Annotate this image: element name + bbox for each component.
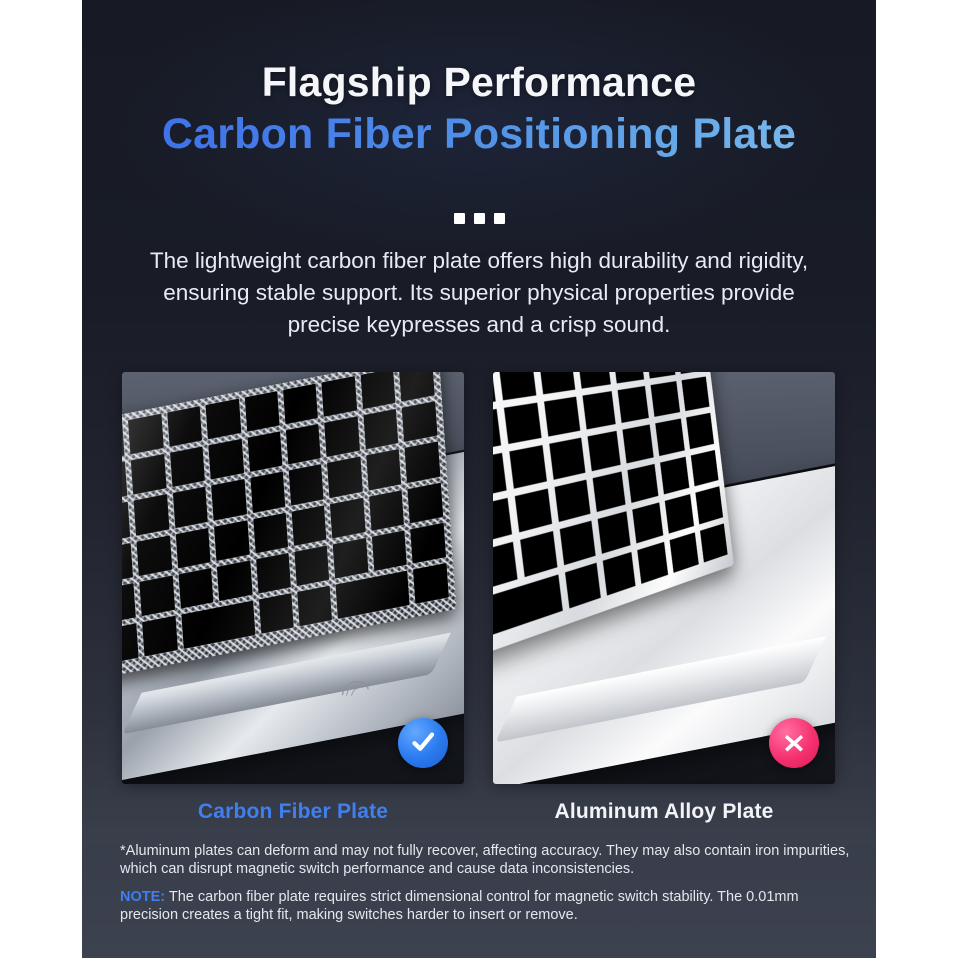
plate-switch-cutout [289, 465, 324, 506]
headline-primary: Flagship Performance [82, 58, 876, 106]
plate-switch-cutout [695, 487, 723, 525]
plate-switch-cutout [582, 391, 615, 430]
footnote-asterisk: *Aluminum plates can deform and may not … [120, 843, 850, 878]
plate-switch-cutout [520, 532, 557, 578]
plate-switch-cutout [291, 505, 326, 546]
plate-switch-cutout [565, 563, 600, 608]
plate-switch-cutout [602, 552, 635, 595]
divider-dot [494, 213, 505, 224]
plate-switch-cutout [206, 399, 241, 440]
headline-secondary: Carbon Fiber Positioning Plate [82, 109, 876, 161]
plate-switch-cutout [175, 528, 210, 569]
plate-switch-cutout [577, 372, 611, 389]
plate-switch-cutout [294, 546, 329, 587]
plate-switch-cutout [181, 601, 255, 649]
plate-switch-cutout [372, 531, 407, 572]
plate-switch-cutout [549, 438, 584, 480]
plate-switch-cutout [650, 381, 680, 417]
plate-switch-cutout [122, 462, 128, 503]
plate-switch-cutout [700, 524, 728, 563]
plate-switch-cutout [122, 664, 139, 670]
plate-switch-cutout [617, 386, 648, 424]
plate-switch-cutout [297, 586, 332, 627]
promo-page: Flagship Performance Carbon Fiber Positi… [0, 0, 958, 958]
plate-switch-cutout [211, 480, 246, 521]
plate-switch-cutout [555, 480, 590, 523]
plate-switch-cutout [560, 521, 595, 565]
plate-switch-cutout [330, 498, 365, 539]
plate-switch-cutout [363, 410, 398, 451]
plate-switch-cutout [515, 489, 553, 533]
plate-switch-cutout [167, 407, 202, 448]
caption-aluminum-alloy: Aluminum Alloy Plate [493, 800, 835, 824]
plate-switch-cutout [122, 584, 136, 625]
plate-switch-cutout [592, 472, 625, 513]
plate-switch-cutout [413, 564, 448, 605]
plate-switch-cutout [493, 409, 501, 453]
plate-switch-cutout [140, 576, 175, 617]
plate-switch-cutout [360, 372, 395, 410]
plate-switch-cutout [597, 512, 630, 554]
plate-switch-cutout [244, 392, 279, 433]
plate-switch-cutout [286, 425, 321, 466]
plate-switch-cutout [369, 490, 404, 531]
plate-switch-cutout [410, 523, 445, 564]
divider-dot [454, 213, 465, 224]
plate-switch-cutout [142, 616, 177, 657]
plate-switch-cutout [677, 372, 705, 374]
plate-switch-cutout [327, 458, 362, 499]
plate-switch-cutout [217, 561, 252, 602]
plate-switch-cutout [336, 571, 410, 619]
note-text: The carbon fiber plate requires strict d… [120, 889, 799, 923]
plate-switch-cutout [612, 372, 644, 383]
plate-switch-cutout [493, 542, 518, 590]
plate-switch-cutout [664, 495, 693, 534]
plate-switch-cutout [208, 440, 243, 481]
divider-dot [474, 213, 485, 224]
plate-switch-cutout [627, 464, 658, 504]
plate-switch-cutout [170, 447, 205, 488]
promo-panel: Flagship Performance Carbon Fiber Positi… [82, 0, 876, 958]
product-image-aluminum-alloy [493, 372, 835, 784]
plate-switch-cutout [283, 384, 318, 425]
plate-switch-cutout [122, 624, 139, 665]
plate-switch-cutout [366, 450, 401, 491]
caption-carbon-fiber: Carbon Fiber Plate [122, 800, 464, 824]
plate-switch-cutout [686, 413, 714, 449]
plate-switch-cutout [493, 372, 496, 407]
plate-switch-cutout [122, 503, 130, 544]
plate-switch-cutout [322, 377, 357, 418]
plate-switch-cutout [122, 543, 133, 584]
plate-switch-cutout [134, 495, 169, 536]
plate-switch-cutout [504, 402, 542, 444]
plate-switch-cutout [539, 372, 575, 394]
status-badge-approved [398, 718, 448, 768]
plate-switch-cutout [407, 483, 442, 524]
plate-switch-cutout [498, 372, 536, 400]
plate-switch-cutout [622, 425, 653, 464]
headline-block: Flagship Performance Carbon Fiber Positi… [82, 58, 876, 161]
plate-switch-cutout [324, 417, 359, 458]
product-image-carbon-fiber [122, 372, 464, 784]
plate-switch-cutout [632, 503, 663, 544]
plate-switch-cutout [655, 419, 685, 456]
plate-switch-cutout [173, 488, 208, 529]
plate-switch-cutout [250, 473, 285, 514]
plate-switch-cutout [131, 455, 166, 496]
plate-switch-cutout [493, 498, 512, 544]
plate-switch-cutout [669, 533, 698, 573]
plate-switch-cutout [128, 414, 163, 455]
check-icon [408, 728, 438, 758]
plate-switch-cutout [645, 372, 675, 378]
plate-switch-cutout [178, 568, 213, 609]
plate-switch-cutout [544, 397, 580, 437]
plate-switch-cutout [691, 450, 719, 487]
status-badge-rejected [769, 718, 819, 768]
plate-switch-cutout [145, 657, 178, 663]
plate-switch-cutout [258, 594, 293, 635]
plate-switch-cutout [681, 376, 709, 411]
plate-switch-cutout [122, 422, 125, 463]
plate-switch-cutout [214, 521, 249, 562]
plate-switch-cutout [253, 513, 288, 554]
plate-switch-cutout [402, 402, 437, 443]
plate-switch-cutout [587, 431, 620, 471]
plate-switch-cutout [137, 536, 172, 577]
dot-divider [82, 213, 876, 224]
plate-switch-cutout [637, 542, 668, 584]
plate-switch-cutout [333, 538, 368, 579]
plate-switch-cutout [493, 453, 507, 498]
plate-switch-cutout [660, 457, 689, 495]
plate-switch-cutout [399, 372, 434, 402]
body-paragraph: The lightweight carbon fiber plate offer… [129, 245, 829, 342]
plate-switch-cutout [509, 445, 547, 488]
footnote-note: NOTE: The carbon fiber plate requires st… [120, 889, 850, 924]
caption-row: Carbon Fiber Plate Aluminum Alloy Plate [122, 800, 836, 824]
footnote-block: *Aluminum plates can deform and may not … [120, 843, 850, 925]
plate-switch-cutout [256, 553, 291, 594]
comparison-row [122, 372, 836, 784]
x-icon [779, 728, 809, 758]
plate-switch-cutout [405, 442, 440, 483]
note-label: NOTE: [120, 889, 165, 905]
plate-switch-cutout [493, 575, 563, 636]
plate-switch-cutout [247, 432, 282, 473]
